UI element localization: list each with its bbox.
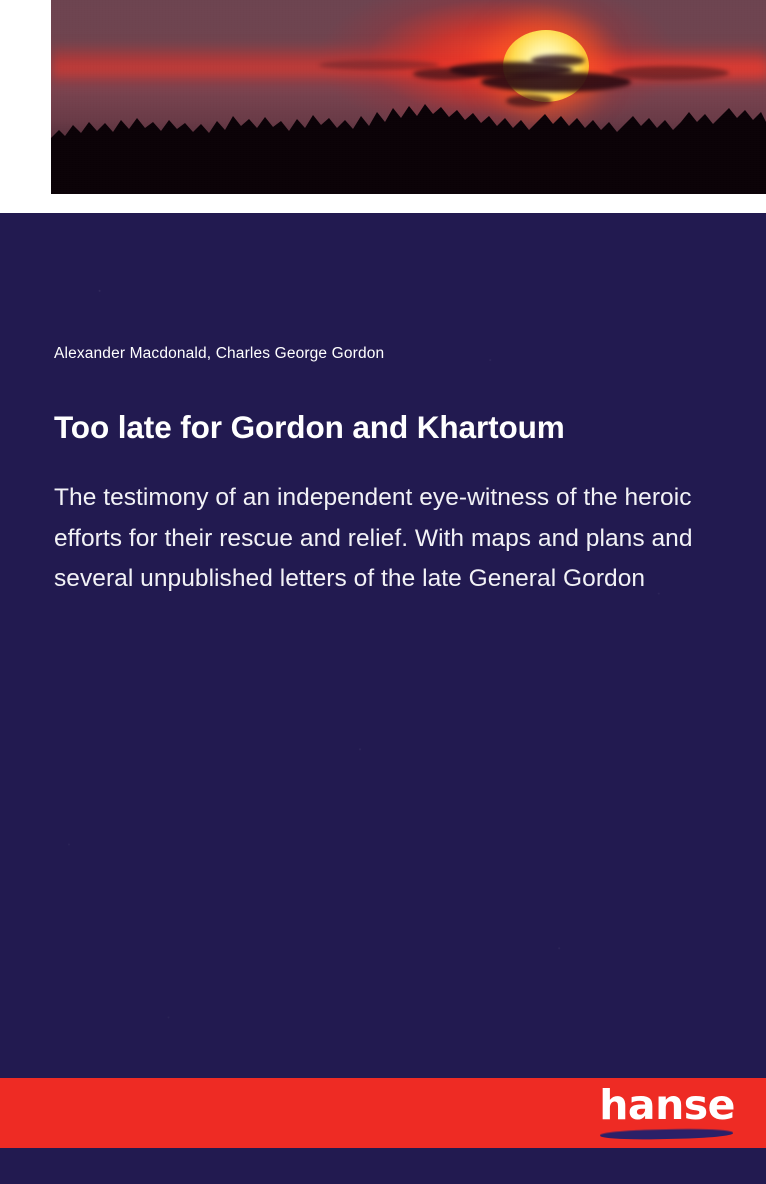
publisher-band: hanse [0,1078,766,1148]
authors-line: Alexander Macdonald, Charles George Gord… [54,344,714,364]
treeline-silhouette [51,98,766,194]
cloud-band-right [611,66,729,80]
bottom-navy-strip [0,1148,766,1184]
cloud-band-lower [481,72,631,92]
publisher-name: hanse [599,1082,735,1128]
cover-text-block: Alexander Macdonald, Charles George Gord… [54,344,714,600]
book-cover: Alexander Macdonald, Charles George Gord… [0,0,766,1184]
cover-body-panel: Alexander Macdonald, Charles George Gord… [0,213,766,1078]
cover-photo [51,0,766,194]
book-subtitle: The testimony of an independent eye-witn… [54,478,714,600]
cloud-band-far-left [319,60,439,70]
publisher-logo: hanse [585,1082,735,1144]
logo-swoosh-icon [600,1129,733,1141]
book-title: Too late for Gordon and Khartoum [54,408,714,446]
